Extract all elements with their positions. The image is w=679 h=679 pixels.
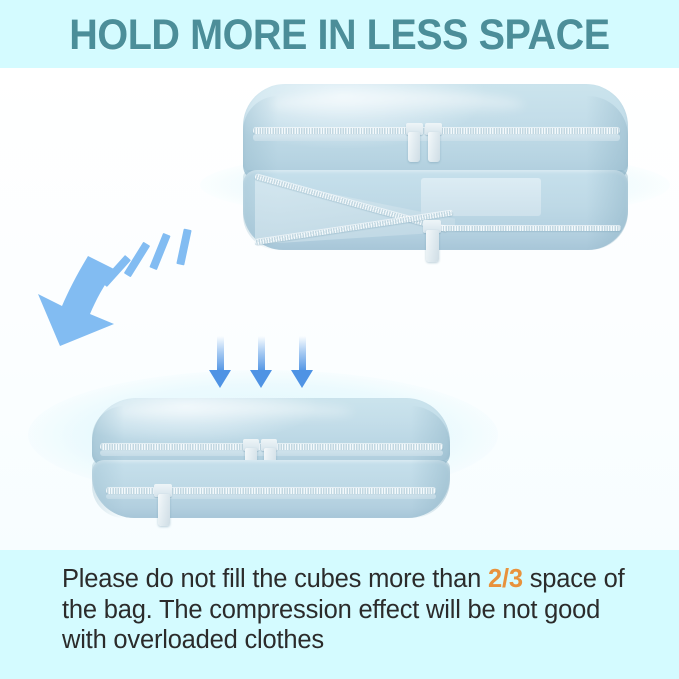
packing-cube-uncompressed [243, 84, 628, 250]
arrow-head [291, 370, 313, 388]
arrow-shaft [299, 336, 306, 372]
arrow-head [250, 370, 272, 388]
compress-direction-arrow [30, 228, 220, 358]
page-title: HOLD MORE IN LESS SPACE [27, 10, 652, 60]
compression-zipper-pull[interactable] [158, 494, 170, 526]
compression-force-arrow-2 [246, 336, 276, 388]
compression-force-arrow-1 [205, 336, 235, 388]
packing-cube-compressed [92, 398, 450, 518]
curve-arrow-head [30, 228, 220, 358]
compression-zipper-pull[interactable] [426, 230, 439, 262]
arrow-head [209, 370, 231, 388]
body-right-edge-shade [586, 170, 628, 250]
caption-text: Please do not fill the cubes more than 2… [62, 564, 637, 656]
arrow-shaft [217, 336, 224, 372]
lid-highlight [270, 92, 524, 117]
lid-highlight [117, 403, 353, 421]
main-zipper-pull-right[interactable] [428, 132, 440, 162]
main-zipper-pull-left[interactable] [408, 132, 420, 162]
caption-part-1: Please do not fill the cubes more than [62, 565, 488, 593]
compression-zipper-tape-right [439, 226, 621, 231]
caption-fraction-highlight: 2/3 [488, 565, 523, 593]
arrow-shaft [258, 336, 265, 372]
compression-force-arrow-3 [287, 336, 317, 388]
compression-flap-panel [421, 178, 541, 216]
infographic-page: HOLD MORE IN LESS SPACE [0, 0, 679, 679]
